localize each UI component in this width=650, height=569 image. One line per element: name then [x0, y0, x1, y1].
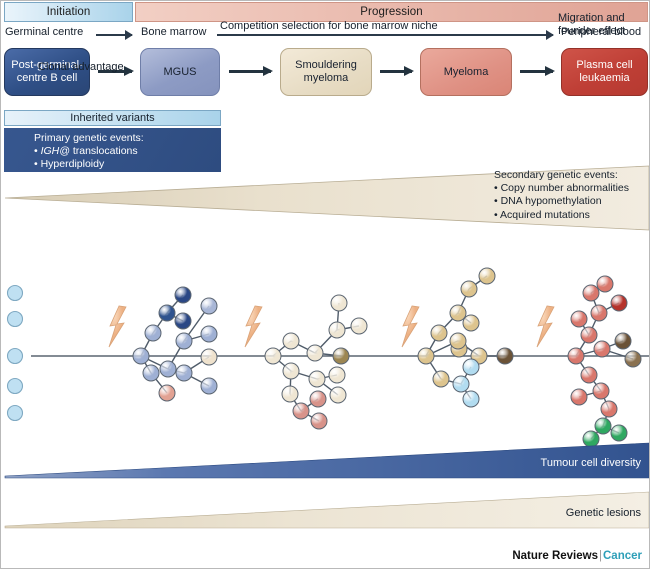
smouldering-cream-clone-node-b [307, 345, 323, 361]
stage-label-smouldering: Smoulderingmyeloma [295, 59, 357, 85]
smouldering-cream-clone-node-e [351, 318, 367, 334]
pcl-red-clone-node-m [601, 401, 617, 417]
smouldering-cream-clone-node-m [310, 391, 326, 407]
label-competition-selection: Competition selection for bone marrow ni… [220, 20, 438, 33]
label-migration-founder-effect: Migration andfounder effect [558, 12, 625, 38]
stage-label-myeloma: Myeloma [444, 66, 489, 79]
stem-cell-0 [8, 286, 23, 301]
inherited-variants-label: Inherited variants [70, 112, 154, 124]
compartment-label-germinal-centre: Germinal centre [5, 26, 83, 38]
lightning-bolt-icon-0 [109, 306, 126, 347]
stage-arrow-2 [229, 70, 271, 73]
myeloma-tan-clone-node-l [463, 359, 479, 375]
gene-igh: IGH@ [41, 145, 70, 157]
stage-box-smouldering-myeloma[interactable]: Smoulderingmyeloma [280, 48, 372, 96]
myeloma-tan-clone-node-e [463, 315, 479, 331]
clonal-cell-nodes [133, 268, 641, 447]
smouldering-cream-clone-node-n [311, 413, 327, 429]
figure-clonal-evolution-myeloma: Initiation Progression Germinal centre B… [0, 0, 650, 569]
stage-box-plasma-cell-leukaemia[interactable]: Plasma cellleukaemia [561, 48, 648, 96]
pcl-red-clone-node-d [583, 285, 599, 301]
stem-cell-2 [8, 349, 23, 364]
pcl-red-clone-node-i [625, 351, 641, 367]
stem-cell-3 [8, 379, 23, 394]
mgus-blue-clone-node-l [201, 378, 217, 394]
smouldering-cream-clone-node-d [331, 295, 347, 311]
label-clonal-advantage: Clonal advantage [38, 61, 124, 74]
pcl-red-clone-node-e [597, 276, 613, 292]
lightning-bolt-icon-3 [537, 306, 554, 347]
myeloma-tan-clone-node-g [450, 333, 466, 349]
stem-cell-4 [8, 406, 23, 421]
compartment-arrow-gc-to-bm [96, 34, 132, 36]
phase-label-initiation: Initiation [47, 6, 91, 18]
mgus-blue-clone-node-c [175, 287, 191, 303]
myeloma-tan-clone-node-k [453, 376, 469, 392]
mgus-blue-clone-node-e [160, 361, 176, 377]
secondary-events-list: Copy number abnormalities DNA hypomethyl… [494, 182, 629, 222]
smouldering-cream-clone-node-r [265, 348, 281, 364]
stage-box-mgus[interactable]: MGUS [140, 48, 220, 96]
stage-arrow-3 [380, 70, 412, 73]
myeloma-tan-clone-node-b [450, 305, 466, 321]
smouldering-cream-clone-node-a [283, 333, 299, 349]
myeloma-tan-clone-node-d [479, 268, 495, 284]
compartment-arrow-bm-to-pb [217, 34, 553, 36]
secondary-event-item-1: DNA hypomethylation [494, 195, 629, 208]
secondary-events-title: Secondary genetic events: [494, 169, 629, 182]
lightning-bolt-icon-2 [402, 306, 419, 347]
mgus-blue-clone-node-a [145, 325, 161, 341]
stage-arrow-4 [520, 70, 553, 73]
mgus-blue-clone-node-i [201, 298, 217, 314]
mgus-blue-clone-node-d [175, 313, 191, 329]
pcl-red-clone-node-c [591, 305, 607, 321]
compartment-label-bone-marrow: Bone marrow [141, 26, 206, 38]
mgus-blue-clone-node-h [176, 333, 192, 349]
phase-label-progression: Progression [360, 6, 422, 18]
mgus-blue-clone-node-j [201, 326, 217, 342]
pcl-red-clone-node-p [611, 425, 627, 441]
primary-event-item-0: IGH@ translocations [34, 145, 221, 158]
smouldering-cream-clone-node-g [283, 363, 299, 379]
smouldering-cream-clone-node-f [333, 348, 349, 364]
lightning-bolt-icon-1 [245, 306, 262, 347]
wedge-genetic-lesions [1, 488, 650, 533]
primary-events-title: Primary genetic events: [34, 132, 221, 145]
mgus-blue-clone-node-k [176, 365, 192, 381]
pcl-red-clone-node-k [593, 383, 609, 399]
pcl-red-clone-node-r [568, 348, 584, 364]
pcl-red-clone-node-l [571, 389, 587, 405]
pcl-red-clone-node-h [615, 333, 631, 349]
smouldering-cream-clone-node-i [329, 367, 345, 383]
stage-box-myeloma[interactable]: Myeloma [420, 48, 512, 96]
pcl-red-clone-node-g [594, 341, 610, 357]
smouldering-cream-clone-node-c [329, 322, 345, 338]
smouldering-cream-clone-node-k [282, 386, 298, 402]
label-tumour-cell-diversity: Tumour cell diversity [541, 457, 641, 469]
secondary-event-item-2: Acquired mutations [494, 209, 629, 222]
pcl-red-clone-node-a [581, 327, 597, 343]
stage-label-mgus: MGUS [164, 66, 197, 79]
myeloma-tan-clone-node-i [497, 348, 513, 364]
clonal-stem-cells [8, 286, 23, 421]
credit-journal: Nature Reviews [512, 550, 598, 562]
pcl-red-clone-node-b [571, 311, 587, 327]
smouldering-cream-clone-node-l [293, 403, 309, 419]
stem-cell-1 [8, 312, 23, 327]
pcl-red-clone-node-n [595, 418, 611, 434]
mgus-blue-clone-node-f [143, 365, 159, 381]
banner-inherited-variants: Inherited variants [4, 110, 221, 126]
myeloma-tan-clone-node-r [418, 348, 434, 364]
stage-label-pcl: Plasma cellleukaemia [576, 59, 632, 85]
mgus-blue-clone-node-m [201, 349, 217, 365]
text-secondary-genetic-events: Secondary genetic events: Copy number ab… [494, 169, 629, 222]
credit-nature-reviews-cancer: Nature Reviews|Cancer [512, 550, 642, 562]
mgus-blue-clone-node-r [133, 348, 149, 364]
myeloma-tan-clone-node-m [463, 391, 479, 407]
mgus-blue-clone-node-b [159, 305, 175, 321]
label-genetic-lesions: Genetic lesions [566, 507, 641, 519]
credit-title: Cancer [603, 550, 642, 562]
myeloma-tan-clone-node-a [431, 325, 447, 341]
smouldering-cream-clone-node-j [330, 387, 346, 403]
clonal-evolution-diagram [1, 237, 650, 447]
myeloma-tan-clone-node-j [433, 371, 449, 387]
pcl-red-clone-node-j [581, 367, 597, 383]
phase-bar-initiation: Initiation [4, 2, 133, 22]
myeloma-tan-clone-node-c [461, 281, 477, 297]
secondary-event-item-0: Copy number abnormalities [494, 182, 629, 195]
smouldering-cream-clone-node-h [309, 371, 325, 387]
pcl-red-clone-node-f [611, 295, 627, 311]
mgus-blue-clone-node-g [159, 385, 175, 401]
